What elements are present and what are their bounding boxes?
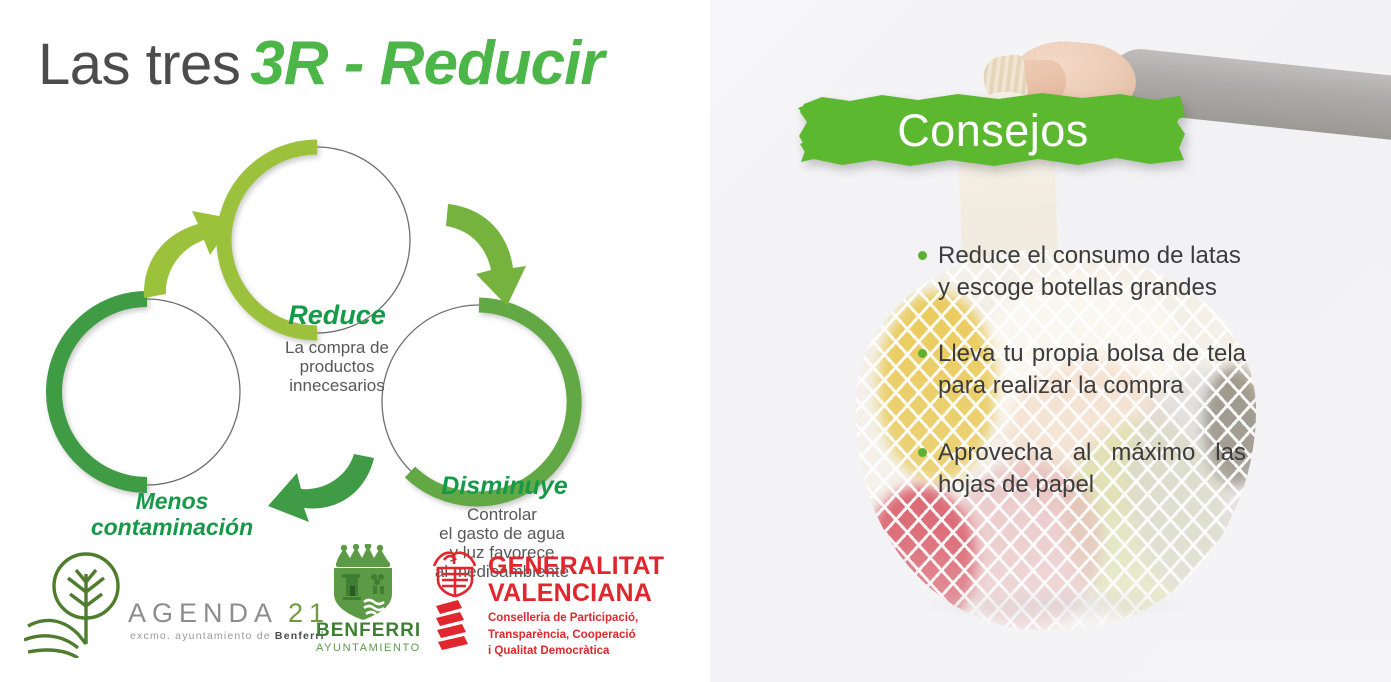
logo-agenda21: AGENDA21 excmo. ayuntamiento de Benferri (24, 548, 292, 658)
poster-root: Las tres3R - Reducir (0, 0, 1391, 682)
logo-agenda21-subtitle: excmo. ayuntamiento de Benferri (130, 630, 325, 642)
logo-benferri-subtitle: AYUNTAMIENTO (316, 642, 414, 654)
logo-agenda21-wordmark: AGENDA21 (128, 598, 330, 629)
tip-item: Reduce el consumo de latas y escoge bote… (916, 240, 1246, 304)
bullet-dot-icon (918, 349, 927, 358)
tree-in-hand-icon (24, 548, 144, 658)
tip-item: Lleva tu propia bolsa de tela para reali… (916, 338, 1246, 402)
logo-benferri: BENFERRI AYUNTAMIENTO (316, 544, 414, 666)
bullet-dot-icon (918, 251, 927, 260)
logo-gva-subtitle: Conselleria de Participació, Transparènc… (488, 610, 638, 660)
right-panel: Consejos Reduce el consumo de latas y es… (710, 0, 1391, 682)
logo-gva-line2: VALENCIANA (488, 579, 652, 608)
tip-item: Aprovecha al máximo las hojas de papel (916, 437, 1246, 501)
ring-disminuye (382, 305, 576, 499)
arrow-reduce-to-disminuye-icon (446, 204, 526, 306)
arrow-disminuye-to-menos-icon (268, 454, 374, 522)
tip-text: Aprovecha al máximo las hojas de papel (938, 439, 1246, 498)
consejos-banner-label: Consejos (798, 90, 1188, 172)
bag-shadow (906, 588, 1206, 622)
left-panel: Las tres3R - Reducir (0, 0, 710, 682)
logo-generalitat-valenciana: GENERALITAT VALENCIANA Conselleria de Pa… (428, 548, 668, 660)
logo-gva-subtitle-line3: i Qualitat Democràtica (488, 643, 638, 660)
bullet-dot-icon (918, 448, 927, 457)
ring-reduce (224, 147, 410, 333)
tip-text: Reduce el consumo de latas y escoge bote… (938, 242, 1241, 301)
logo-gva-subtitle-line2: Transparència, Cooperació (488, 627, 638, 644)
tips-list: Reduce el consumo de latas y escoge bote… (916, 240, 1246, 501)
logo-row: AGENDA21 excmo. ayuntamiento de Benferri (0, 540, 710, 670)
logo-gva-line1: GENERALITAT (488, 552, 664, 581)
gva-bat-shield-icon (428, 548, 482, 654)
logo-gva-subtitle-line1: Conselleria de Participació, (488, 610, 638, 627)
logo-benferri-name: BENFERRI (316, 620, 414, 642)
page-title: Las tres3R - Reducir (38, 33, 604, 95)
logo-agenda21-subtitle-plain: excmo. ayuntamiento de (130, 630, 275, 642)
ring-menos-contaminacion (54, 299, 240, 485)
page-title-accent: 3R - Reducir (250, 29, 603, 98)
logo-agenda21-name: AGENDA (128, 598, 278, 628)
coat-of-arms-icon (316, 544, 414, 620)
cycle-diagram: Reduce La compra de productos innecesari… (20, 120, 620, 540)
tip-text: Lleva tu propia bolsa de tela para reali… (938, 340, 1246, 399)
page-title-plain: Las tres (38, 32, 240, 97)
